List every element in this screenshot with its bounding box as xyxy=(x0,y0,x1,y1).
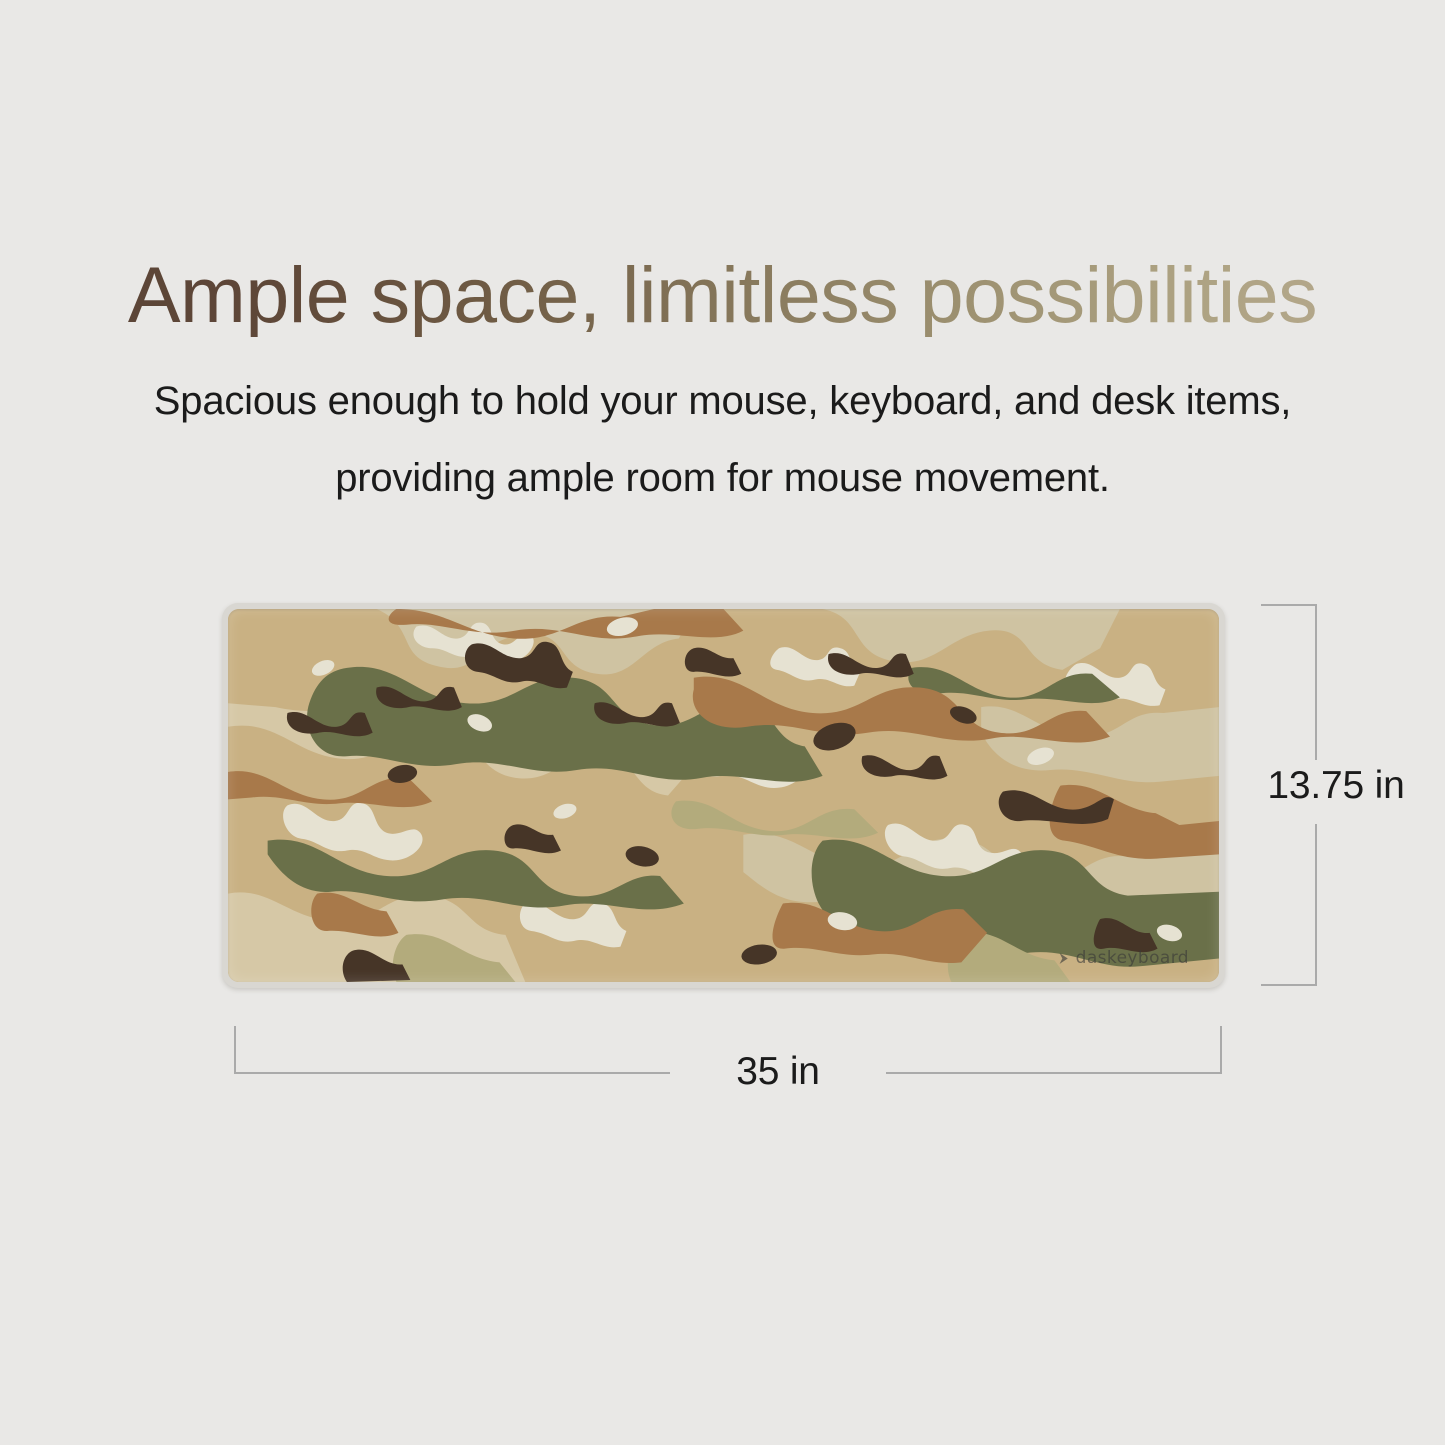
height-tick-bottom xyxy=(1261,984,1317,986)
subtitle-line-1: Spacious enough to hold your mouse, keyb… xyxy=(0,363,1445,440)
height-tick-top xyxy=(1261,604,1317,606)
camouflage-surface: daskeyboard xyxy=(228,609,1219,982)
width-tick-right xyxy=(1220,1026,1222,1074)
chevron-right-icon xyxy=(1058,952,1071,965)
page-subtitle: Spacious enough to hold your mouse, keyb… xyxy=(0,363,1445,517)
brand-logo: daskeyboard xyxy=(1058,948,1189,968)
desk-mat: daskeyboard xyxy=(222,603,1225,988)
subtitle-line-2: providing ample room for mouse movement. xyxy=(0,440,1445,517)
product-image: daskeyboard xyxy=(222,603,1225,988)
width-dimension: 35 in xyxy=(228,1020,1228,1130)
width-line-left xyxy=(234,1072,670,1074)
page-title: Ample space, limitless possibilities xyxy=(0,252,1445,337)
height-line-lower xyxy=(1315,824,1317,986)
camouflage-pattern-svg xyxy=(228,609,1219,982)
width-line-right xyxy=(886,1072,1222,1074)
height-dimension: 13.75 in xyxy=(1256,596,1416,996)
width-dimension-label: 35 in xyxy=(668,1050,888,1094)
width-tick-left xyxy=(234,1026,236,1074)
height-line-upper xyxy=(1315,605,1317,760)
height-dimension-label: 13.75 in xyxy=(1256,764,1416,808)
brand-logo-text: daskeyboard xyxy=(1076,948,1189,968)
